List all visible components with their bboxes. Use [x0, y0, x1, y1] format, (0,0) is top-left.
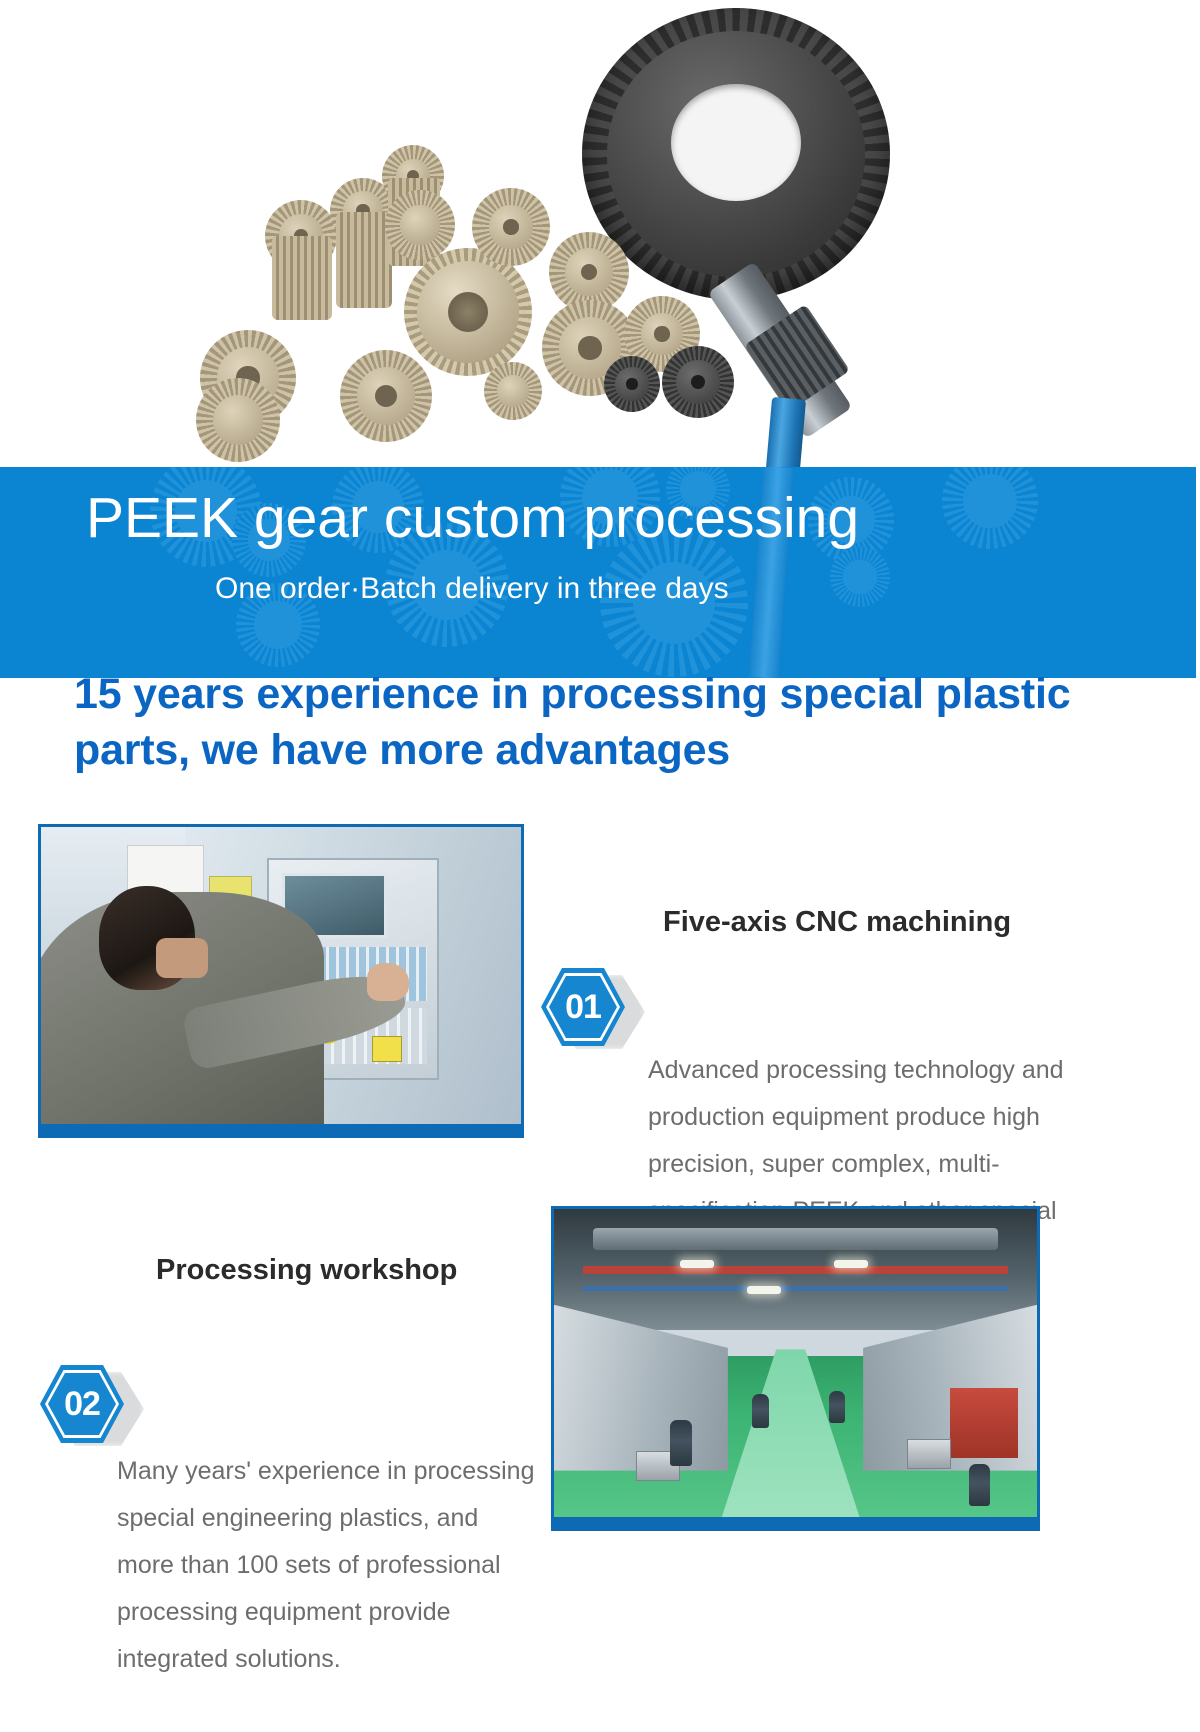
gear-beige-big-center	[404, 248, 532, 376]
section-title-01: Five-axis CNC machining	[663, 906, 1011, 939]
badge-number: 02	[64, 1385, 100, 1424]
gear-beige-tall-1	[272, 236, 332, 320]
cnc-operator-photo	[38, 824, 524, 1138]
gear-beige-6	[472, 188, 550, 266]
section-title-02: Processing workshop	[156, 1254, 457, 1287]
section-badge-01: 01	[541, 968, 633, 1052]
gear-dark-small-1	[604, 356, 660, 412]
section-body-02: Many years' experience in processing spe…	[117, 1448, 537, 1683]
gear-beige-12	[196, 378, 280, 462]
gear-beige-10	[484, 362, 542, 420]
section-badge-02: 02	[40, 1365, 132, 1449]
gear-large-dark	[582, 8, 890, 300]
processing-workshop-photo	[551, 1206, 1040, 1531]
blue-rod	[752, 397, 806, 470]
page-headline: 15 years experience in processing specia…	[74, 666, 1084, 778]
hero-product-image	[0, 0, 1200, 470]
banner-title: PEEK gear custom processing	[86, 485, 859, 551]
gear-beige-tall-2	[336, 212, 392, 308]
hero-banner: PEEK gear custom processing One order·Ba…	[0, 467, 1196, 678]
gear-dark-small-2	[662, 346, 734, 418]
banner-subtitle: One order·Batch delivery in three days	[215, 572, 729, 606]
badge-number: 01	[565, 988, 601, 1027]
gear-beige-5	[385, 190, 455, 260]
gear-beige-11	[340, 350, 432, 442]
